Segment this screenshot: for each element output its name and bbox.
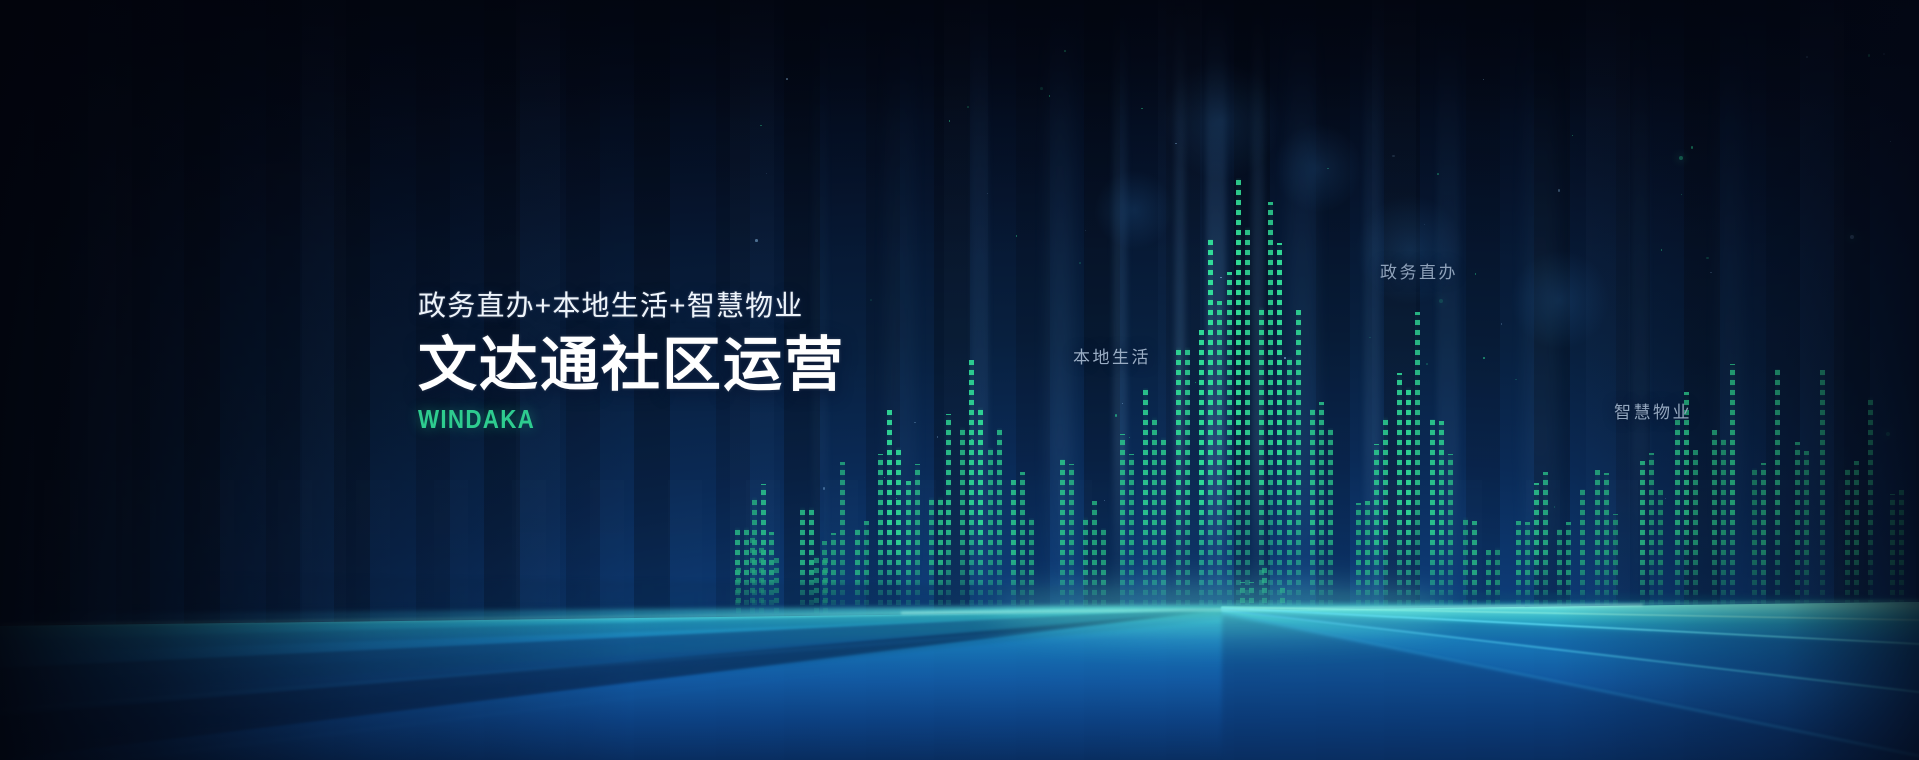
vanishing-point-bloom xyxy=(992,584,1452,636)
floating-label: 本地生活 xyxy=(1073,343,1151,368)
headline-block: 政务直办+本地生活+智慧物业 文达通社区运营 WINDAKA xyxy=(418,292,978,432)
banner-title: 文达通社区运营 xyxy=(418,335,978,397)
floating-label: 智慧物业 xyxy=(1614,398,1692,423)
banner-root: 政务直办本地生活智慧物业 政务直办+本地生活+智慧物业 文达通社区运营 WIND… xyxy=(0,0,1919,760)
brand-wordmark: WINDAKA xyxy=(418,406,900,432)
floating-label: 政务直办 xyxy=(1380,258,1458,283)
perspective-ground xyxy=(0,480,1919,760)
banner-subtitle: 政务直办+本地生活+智慧物业 xyxy=(418,292,978,320)
ground-svg xyxy=(0,480,1919,760)
